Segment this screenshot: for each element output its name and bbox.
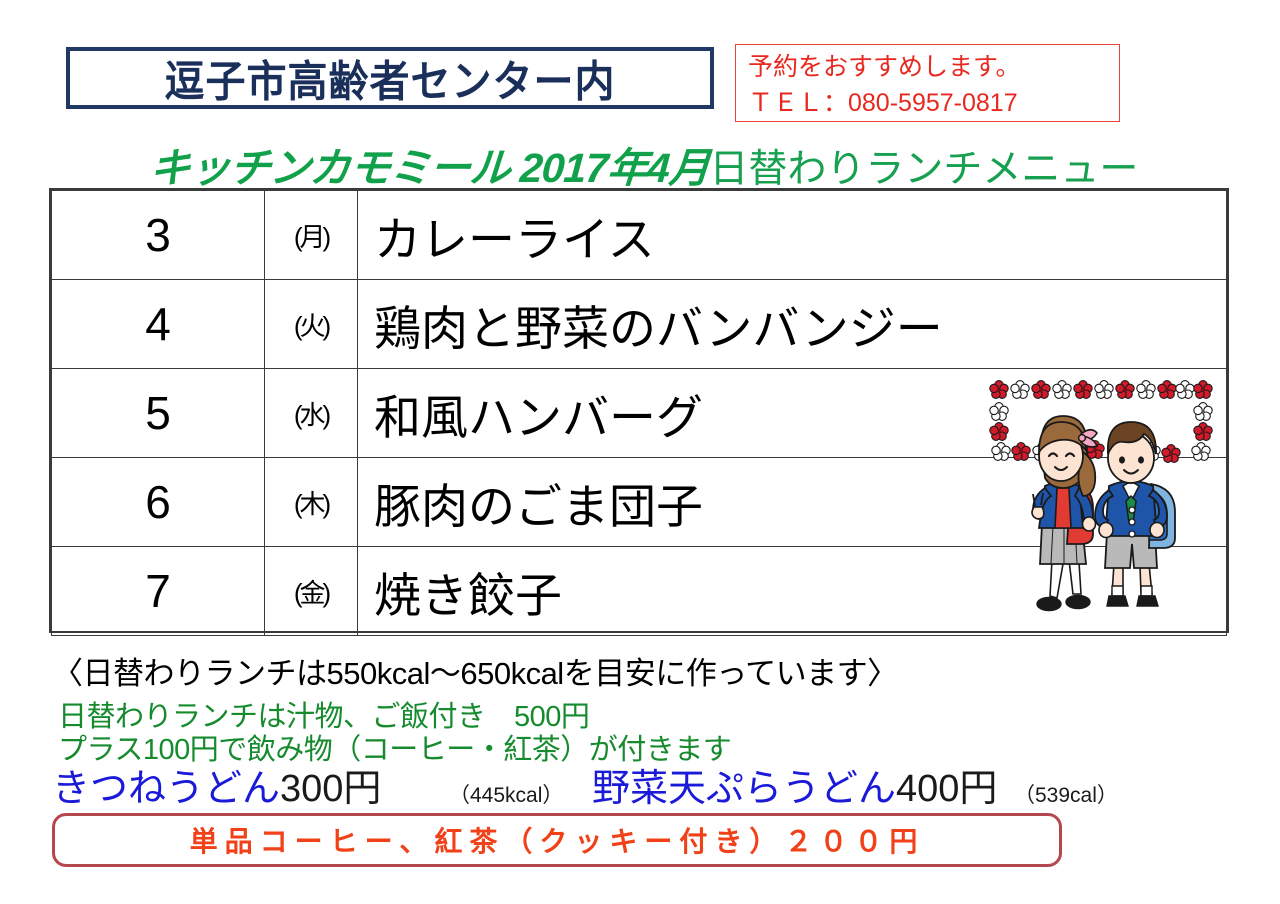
dish-value: 鶏肉と野菜のバンバンジー xyxy=(374,302,943,355)
day-value: (火) xyxy=(294,311,328,341)
table-row: 4 (火) 鶏肉と野菜のバンバンジー xyxy=(52,280,1227,369)
udon-calories: （539cal） xyxy=(1014,779,1118,809)
calorie-range-note: 〈日替わりランチは550kcal〜650kcalを目安に作っています〉 xyxy=(52,648,898,693)
table-row: 7 (金) 焼き餃子 xyxy=(52,547,1227,636)
date-value: 3 xyxy=(145,209,171,261)
menu-table: 3 (月) カレーライス 4 (火) 鶏肉と野菜のバンバンジー 5 (水) 和風… xyxy=(49,188,1229,633)
reservation-note: 予約をおすすめします。 xyxy=(748,49,1109,85)
cell-date: 4 xyxy=(52,280,265,369)
udon-item-kitsune: きつねうどん300円 xyxy=(52,757,381,812)
day-value: (金) xyxy=(294,578,328,608)
udon-name: きつねうどん xyxy=(52,768,280,810)
date-value: 4 xyxy=(145,298,171,350)
reservation-box: 予約をおすすめします。 ＴＥＬ：080-5957-0817 xyxy=(735,44,1120,122)
table-row: 5 (水) 和風ハンバーグ xyxy=(52,369,1227,458)
menu-poster: 逗子市高齢者センター内 予約をおすすめします。 ＴＥＬ：080-5957-081… xyxy=(0,0,1280,904)
day-value: (月) xyxy=(294,222,328,252)
dish-value: 焼き餃子 xyxy=(374,569,562,622)
udon-calories: （445kcal） xyxy=(449,779,563,809)
udon-price: 300円 xyxy=(280,768,381,810)
udon-items: きつねうどん300円 （445kcal） 野菜天ぷらうどん400円 （539ca… xyxy=(52,757,1202,807)
udon-price: 400円 xyxy=(896,768,997,810)
date-value: 5 xyxy=(145,387,171,439)
cell-date: 5 xyxy=(52,369,265,458)
date-value: 7 xyxy=(145,565,171,617)
cell-day: (水) xyxy=(265,369,358,458)
dish-value: 和風ハンバーグ xyxy=(374,391,703,444)
cell-dish: カレーライス xyxy=(358,191,1227,280)
telephone-number: ＴＥＬ：080-5957-0817 xyxy=(748,85,1109,121)
cell-date: 3 xyxy=(52,191,265,280)
cell-date: 7 xyxy=(52,547,265,636)
page-title-bold: キッチンカモミール 2017年4月 xyxy=(148,134,712,194)
udon-item-yasai-tempura: 野菜天ぷらうどん400円 xyxy=(592,757,997,812)
cell-dish: 和風ハンバーグ xyxy=(358,369,1227,458)
coffee-banner-text: 単品コーヒー、紅茶（クッキー付き）２００円 xyxy=(190,820,925,860)
cell-day: (金) xyxy=(265,547,358,636)
udon-name: 野菜天ぷらうどん xyxy=(592,768,896,810)
page-title: キッチンカモミール 2017年4月 日替わりランチメニュー xyxy=(150,134,1210,184)
coffee-banner: 単品コーヒー、紅茶（クッキー付き）２００円 xyxy=(52,813,1062,867)
cell-dish: 焼き餃子 xyxy=(358,547,1227,636)
cell-day: (木) xyxy=(265,458,358,547)
venue-title: 逗子市高齢者センター内 xyxy=(165,47,616,110)
cell-dish: 鶏肉と野菜のバンバンジー xyxy=(358,280,1227,369)
date-value: 6 xyxy=(145,476,171,528)
day-value: (木) xyxy=(294,489,328,519)
day-value: (水) xyxy=(294,400,328,430)
dish-value: カレーライス xyxy=(374,213,655,266)
page-title-light: 日替わりランチメニュー xyxy=(709,138,1138,194)
cell-date: 6 xyxy=(52,458,265,547)
cell-dish: 豚肉のごま団子 xyxy=(358,458,1227,547)
venue-title-box: 逗子市高齢者センター内 xyxy=(66,47,714,109)
table-row: 3 (月) カレーライス xyxy=(52,191,1227,280)
dish-value: 豚肉のごま団子 xyxy=(374,480,703,533)
cell-day: (火) xyxy=(265,280,358,369)
table-row: 6 (木) 豚肉のごま団子 xyxy=(52,458,1227,547)
cell-day: (月) xyxy=(265,191,358,280)
